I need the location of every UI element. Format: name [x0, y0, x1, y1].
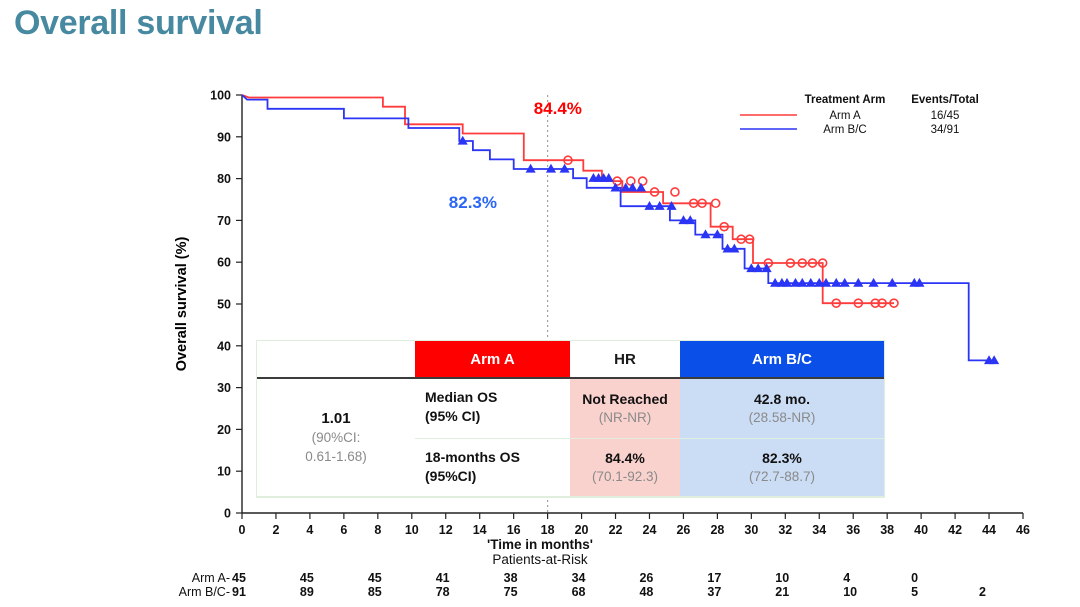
x-tick-label: 20 — [575, 523, 589, 537]
at-risk-count: 4 — [843, 571, 850, 585]
y-tick-label: 50 — [217, 298, 231, 312]
x-tick-label: 8 — [374, 523, 381, 537]
x-tick-label: 12 — [439, 523, 453, 537]
y-tick-label: 40 — [217, 339, 231, 353]
y-tick-label: 20 — [217, 423, 231, 437]
annotation-arm-a-18mo: 84.4% — [534, 99, 582, 118]
table-header-arm-a: Arm A — [415, 341, 570, 379]
x-tick-label: 42 — [948, 523, 962, 537]
row-label-line1: Median OS — [425, 388, 570, 407]
hr-value: 1.01 — [321, 408, 350, 429]
summary-table: Arm A HR Arm B/C Median OS (95% CI) Not … — [256, 340, 885, 498]
y-tick-label: 90 — [217, 130, 231, 144]
y-tick-label: 70 — [217, 214, 231, 228]
at-risk-count: 34 — [572, 571, 586, 585]
at-risk-count: 10 — [843, 585, 857, 599]
row-label-line1: 18-months OS — [425, 448, 570, 467]
at-risk-count: 10 — [775, 571, 789, 585]
censor-mark-circle — [712, 199, 720, 207]
censor-mark-circle — [627, 177, 635, 185]
at-risk-count: 48 — [639, 585, 653, 599]
at-risk-row-label: Arm A- — [130, 571, 230, 585]
survival-curve-arm-a — [242, 95, 894, 303]
at-risk-count: 85 — [368, 585, 382, 599]
row-label-18-months-os: 18-months OS (95%CI) — [415, 439, 570, 497]
at-risk-count: 45 — [232, 571, 246, 585]
x-tick-label: 4 — [306, 523, 313, 537]
at-risk-count: 17 — [707, 571, 721, 585]
cell-18-months-os-arm-a: 84.4% (70.1-92.3) — [570, 439, 680, 497]
at-risk-count: 21 — [775, 585, 789, 599]
at-risk-row: Arm A-45454541383426171040 — [0, 571, 1080, 586]
x-tick-label: 28 — [710, 523, 724, 537]
x-tick-label: 24 — [643, 523, 657, 537]
at-risk-count: 75 — [504, 585, 518, 599]
y-tick-label: 100 — [210, 89, 231, 103]
y-tick-label: 0 — [224, 507, 231, 521]
legend-events-arm-bc: 34/91 — [931, 124, 960, 136]
table-header-hr: HR — [570, 341, 680, 379]
at-risk-count: 68 — [572, 585, 586, 599]
x-tick-label: 32 — [778, 523, 792, 537]
cell-18-months-os-arm-bc: 82.3% (72.7-88.7) — [680, 439, 884, 497]
at-risk-count: 0 — [911, 571, 918, 585]
legend-label-arm-a: Arm A — [829, 110, 861, 122]
x-tick-label: 26 — [676, 523, 690, 537]
value: 42.8 mo. — [754, 390, 810, 409]
x-tick-label: 44 — [982, 523, 996, 537]
at-risk-count: 91 — [232, 585, 246, 599]
table-header-arm-bc: Arm B/C — [680, 341, 884, 379]
at-risk-count: 26 — [639, 571, 653, 585]
x-tick-label: 14 — [473, 523, 487, 537]
censor-mark-circle — [639, 177, 647, 185]
y-tick-label: 60 — [217, 256, 231, 270]
cell-median-os-arm-bc: 42.8 mo. (28.58-NR) — [680, 379, 884, 439]
row-label-line2: (95%CI) — [425, 467, 570, 486]
survival-curve-arm-bc — [242, 95, 994, 360]
row-label-line2: (95% CI) — [425, 407, 570, 426]
at-risk-count: 45 — [368, 571, 382, 585]
at-risk-count: 89 — [300, 585, 314, 599]
x-axis-title: 'Time in months' — [0, 537, 1080, 552]
censor-mark-circle — [671, 188, 679, 196]
row-label-median-os: Median OS (95% CI) — [415, 379, 570, 439]
at-risk-row-label: Arm B/C- — [130, 585, 230, 599]
annotation-arm-bc-18mo: 82.3% — [449, 193, 497, 212]
page-title: Overall survival — [14, 4, 262, 43]
value: Not Reached — [582, 390, 668, 409]
legend-header-treatment-arm: Treatment Arm — [805, 94, 886, 106]
at-risk-count: 2 — [979, 585, 986, 599]
at-risk-count: 38 — [504, 571, 518, 585]
legend-header-events-total: Events/Total — [911, 94, 979, 106]
at-risk-caption: Patients-at-Risk — [0, 552, 1080, 567]
x-tick-label: 30 — [744, 523, 758, 537]
x-tick-label: 40 — [914, 523, 928, 537]
y-tick-label: 80 — [217, 172, 231, 186]
x-tick-label: 46 — [1016, 523, 1030, 537]
x-tick-label: 6 — [340, 523, 347, 537]
hr-ci-line2: 0.61-1.68) — [305, 448, 367, 467]
confidence-interval: (72.7-88.7) — [749, 468, 815, 487]
y-axis-title: Overall survival (%) — [174, 237, 190, 372]
at-risk-count: 5 — [911, 585, 918, 599]
at-risk-count: 45 — [300, 571, 314, 585]
x-tick-label: 0 — [239, 523, 246, 537]
at-risk-count: 37 — [707, 585, 721, 599]
hr-ci-line1: (90%CI: — [312, 429, 361, 448]
value: 82.3% — [762, 449, 802, 468]
table-header-blank — [257, 341, 415, 379]
x-tick-label: 36 — [846, 523, 860, 537]
value: 84.4% — [605, 449, 645, 468]
x-tick-label: 18 — [541, 523, 555, 537]
confidence-interval: (28.58-NR) — [749, 409, 816, 428]
at-risk-count: 41 — [436, 571, 450, 585]
at-risk-count: 78 — [436, 585, 450, 599]
legend-label-arm-bc: Arm B/C — [823, 124, 866, 136]
legend-events-arm-a: 16/45 — [931, 110, 960, 122]
x-tick-label: 16 — [507, 523, 521, 537]
cell-hazard-ratio: 1.01 (90%CI: 0.61-1.68) — [257, 379, 415, 497]
confidence-interval: (NR-NR) — [599, 409, 651, 428]
at-risk-row: Arm B/C-9189857875684837211052 — [0, 585, 1080, 600]
y-tick-label: 30 — [217, 381, 231, 395]
survival-chart: 0246810121416182022242628303234363840424… — [0, 70, 1080, 607]
x-tick-label: 22 — [609, 523, 623, 537]
x-tick-label: 38 — [880, 523, 894, 537]
confidence-interval: (70.1-92.3) — [592, 468, 658, 487]
cell-median-os-arm-a: Not Reached (NR-NR) — [570, 379, 680, 439]
x-tick-label: 10 — [405, 523, 419, 537]
y-tick-label: 10 — [217, 465, 231, 479]
x-tick-label: 2 — [272, 523, 279, 537]
x-tick-label: 34 — [812, 523, 826, 537]
plot-canvas: 0246810121416182022242628303234363840424… — [0, 70, 1080, 607]
